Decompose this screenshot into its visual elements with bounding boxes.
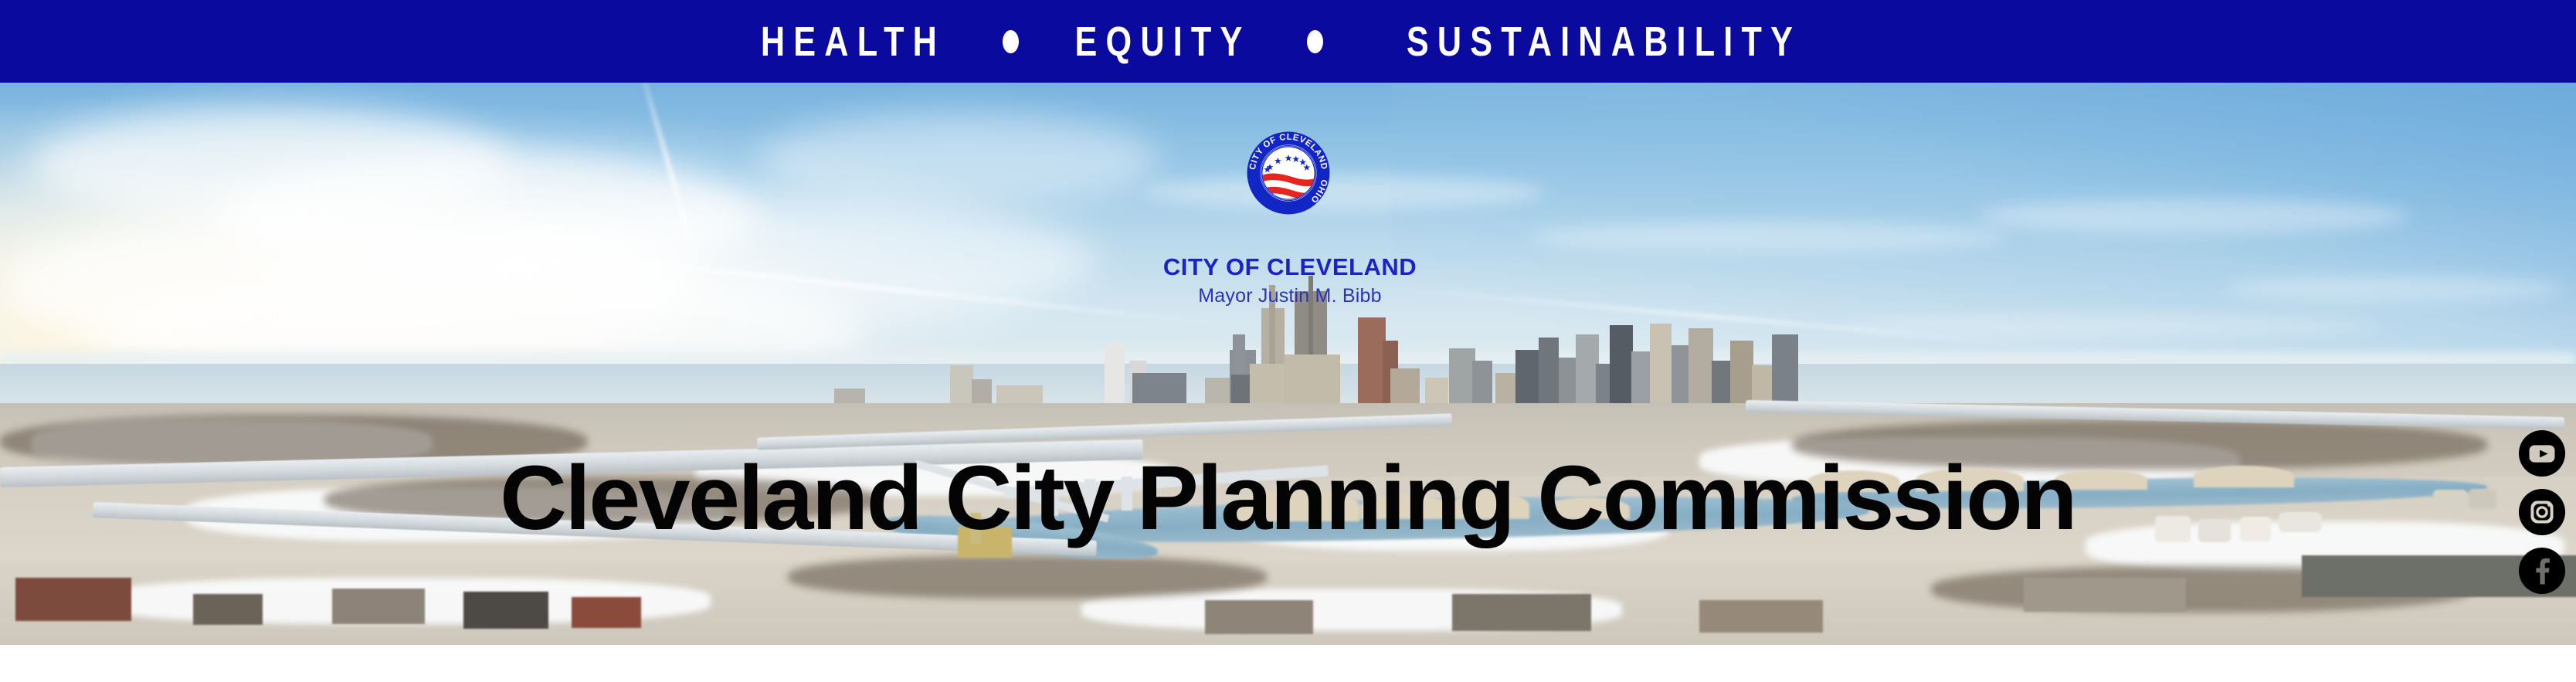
storage-tank [2469, 489, 2496, 509]
aggregate-pile [2194, 466, 2294, 487]
slogan-word-equity: EQUITY [1074, 21, 1251, 63]
building-block [463, 592, 548, 629]
slogan-row: HEALTH EQUITY SUSTAINABILITY [738, 21, 1851, 63]
youtube-icon[interactable] [2518, 429, 2566, 477]
building [1472, 361, 1492, 409]
building-block [1452, 594, 1591, 631]
building-block [1205, 600, 1313, 634]
social-link-youtube[interactable] [2518, 429, 2566, 477]
bridge-pier [1084, 479, 1095, 514]
city-of-cleveland-seal-icon: CITY OF CLEVELAND OHIO [1247, 131, 1330, 215]
city-name-label: CITY OF CLEVELAND [1004, 255, 1576, 280]
building [1610, 325, 1633, 409]
aggregate-pile [1236, 490, 1359, 521]
social-links[interactable] [2516, 429, 2568, 595]
building [1105, 343, 1125, 409]
mayor-name-label: Mayor Justin M. Bibb [1004, 285, 1576, 307]
building [1631, 351, 1651, 409]
building-block [958, 527, 1012, 558]
storage-tank [2279, 512, 2322, 532]
instagram-icon[interactable] [2518, 488, 2566, 536]
bridge-pier [1122, 477, 1132, 511]
church [970, 513, 981, 544]
key-tower-base [1285, 355, 1340, 409]
aggregate-pile [1545, 497, 1630, 519]
facebook-icon[interactable] [2518, 547, 2566, 595]
slogan-word-health: HEALTH [761, 21, 945, 63]
200-public-square [1358, 317, 1386, 409]
building [1650, 324, 1672, 409]
social-link-instagram[interactable] [2518, 488, 2566, 536]
building [1712, 361, 1730, 409]
storage-tank [2433, 490, 2467, 510]
bullet-dot-icon [1307, 30, 1323, 53]
building [1559, 358, 1576, 409]
building [1539, 338, 1559, 409]
building [1772, 334, 1798, 409]
storage-tank [2198, 519, 2231, 542]
aggregate-pile [2055, 470, 2147, 490]
aggregate-pile [1359, 496, 1452, 519]
building [1672, 345, 1688, 409]
aggregate-pile [1916, 468, 2024, 491]
bridge-pier [1047, 482, 1058, 516]
building-block [1699, 600, 1823, 633]
aggregate-pile [1452, 493, 1529, 519]
building-block [193, 594, 263, 625]
building [1596, 364, 1610, 409]
aggregate-pile [1807, 470, 1900, 492]
bullet-dot-icon [1003, 30, 1019, 53]
building [1730, 341, 1753, 409]
slogan-banner: HEALTH EQUITY SUSTAINABILITY [0, 0, 2576, 83]
tree-belt [788, 555, 1267, 599]
storage-tank [2155, 516, 2191, 542]
building [1449, 348, 1475, 409]
city-wordmark: CITY OF CLEVELAND Mayor Justin M. Bibb [1004, 255, 1576, 307]
building-block [2024, 578, 2186, 612]
building-block [15, 578, 131, 621]
building-block [572, 597, 641, 628]
page-root: HEALTH EQUITY SUSTAINABILITY [0, 0, 2576, 682]
tree-belt [1792, 420, 2487, 470]
building [950, 365, 973, 409]
building [1515, 350, 1542, 409]
slogan-word-sustainability: SUSTAINABILITY [1407, 21, 1801, 63]
storage-tank [2240, 517, 2271, 541]
building-block [332, 589, 425, 624]
building [1688, 328, 1713, 409]
social-link-facebook[interactable] [2518, 547, 2566, 595]
